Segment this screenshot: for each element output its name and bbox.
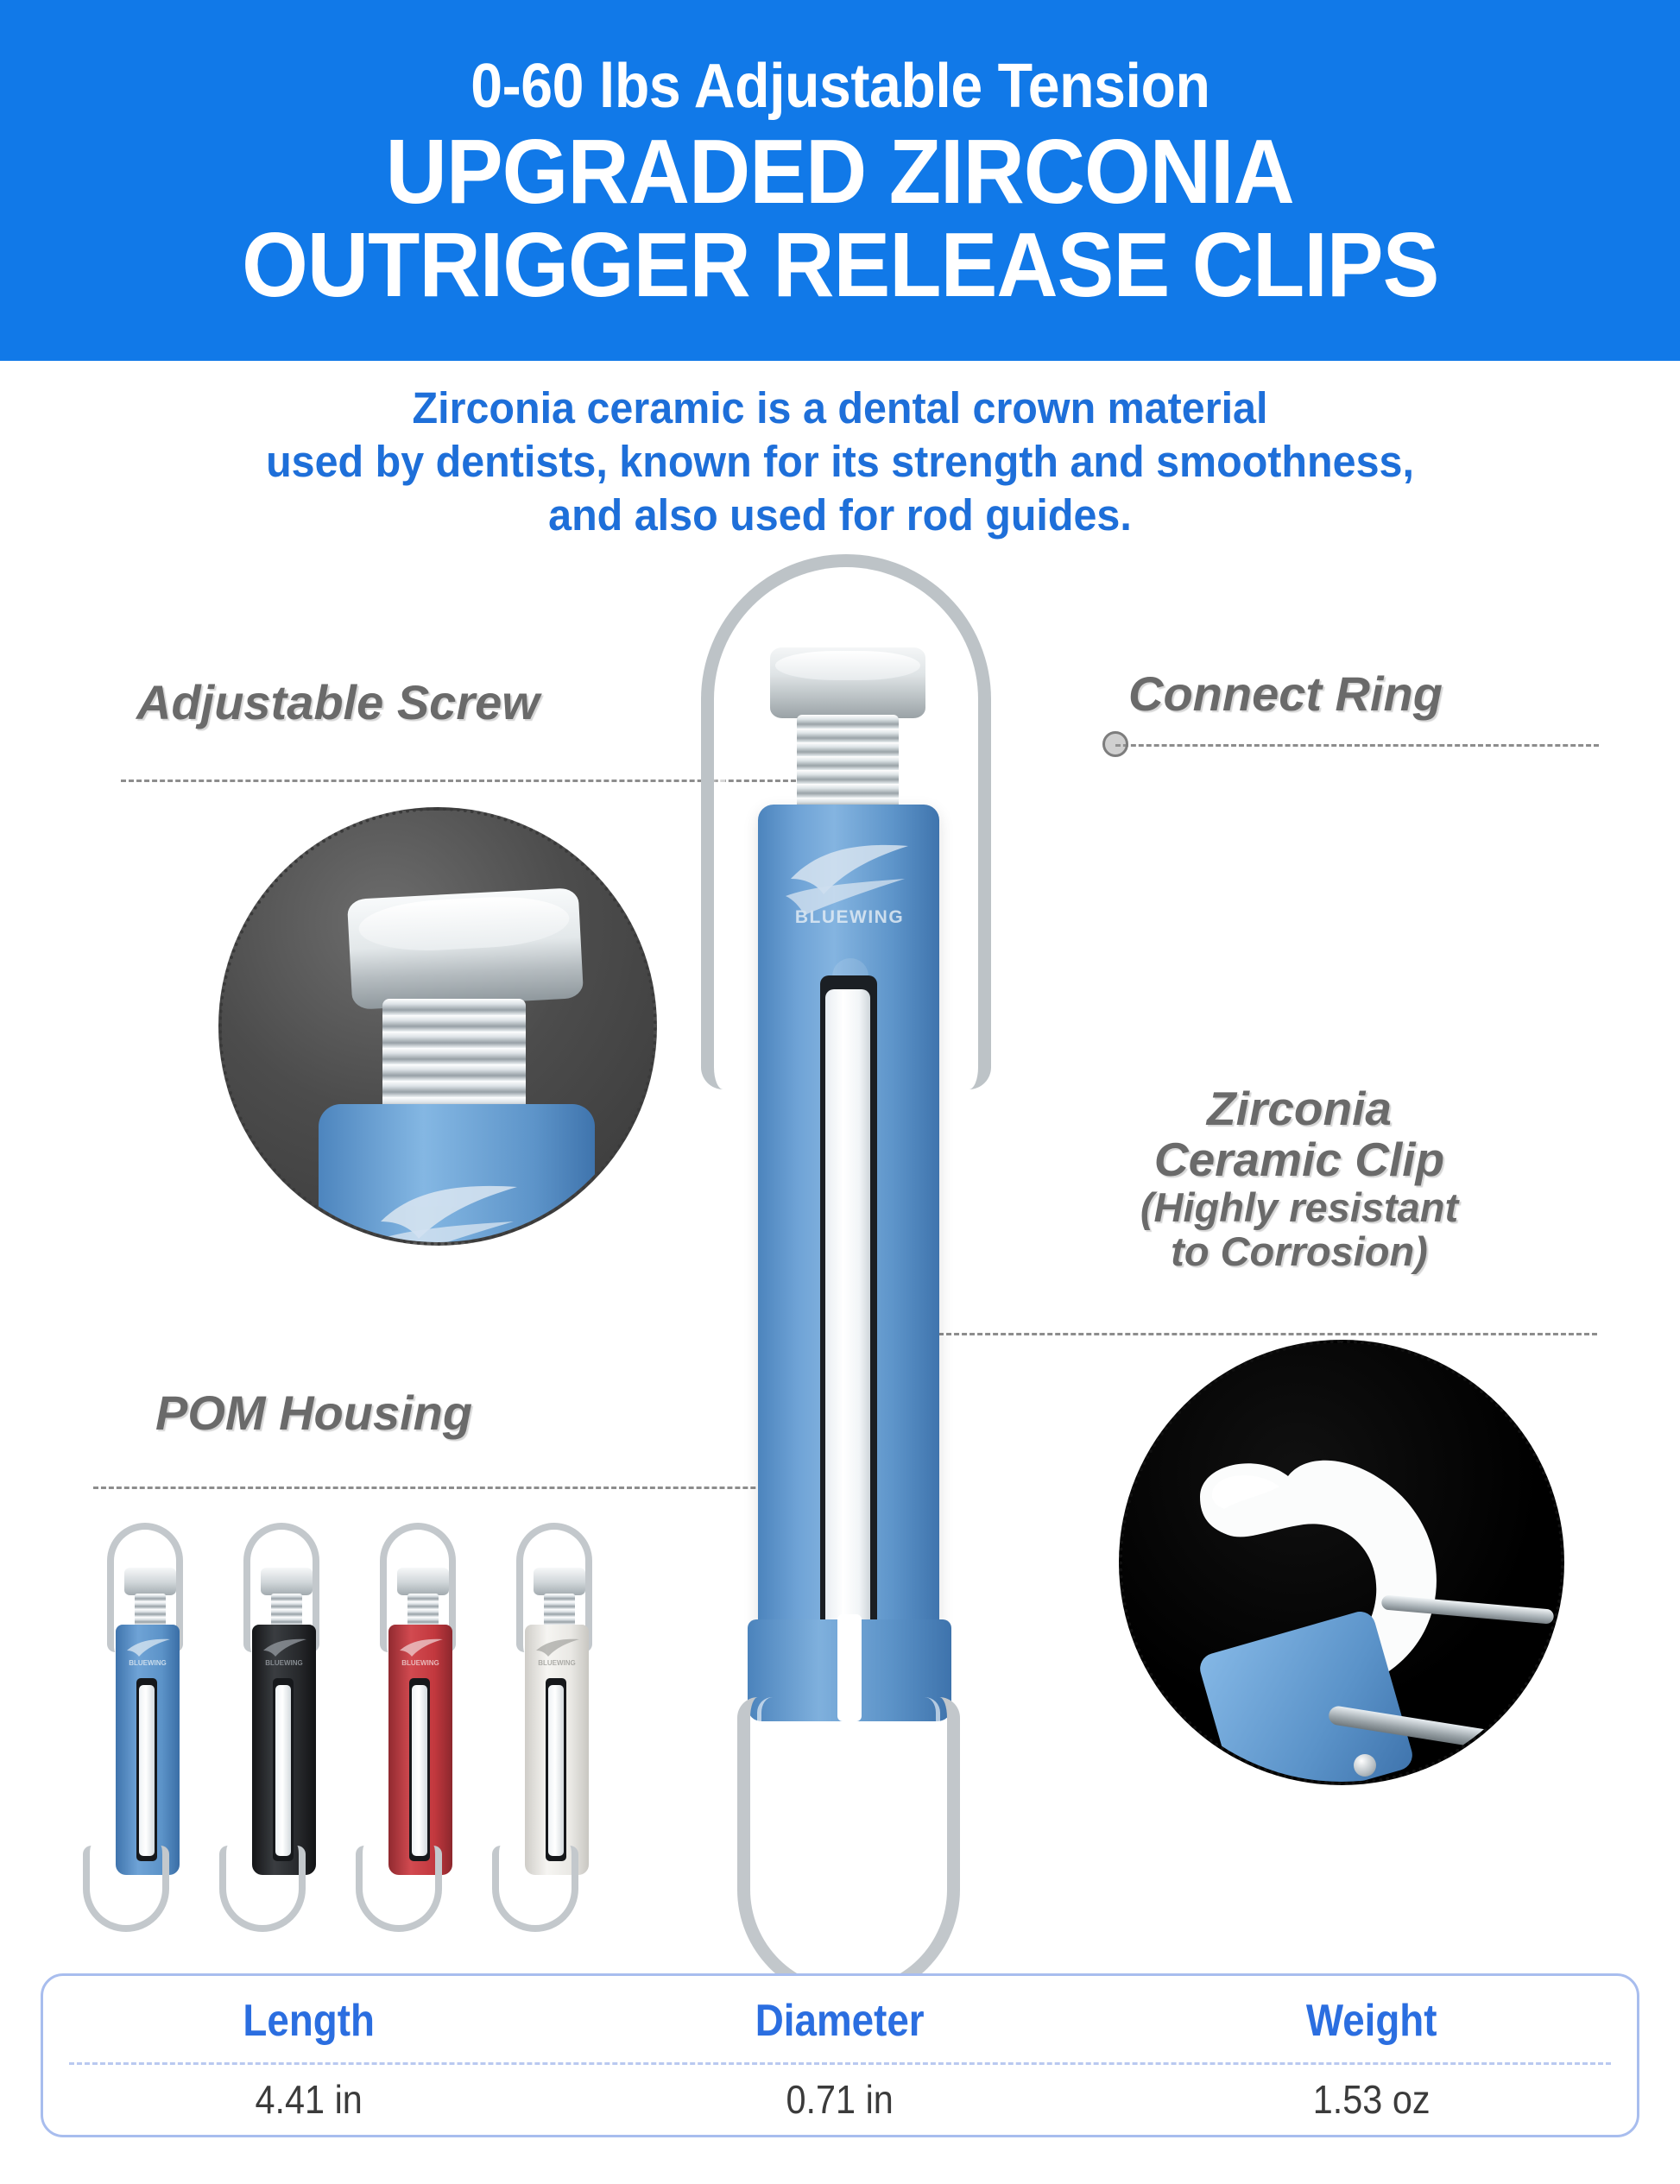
variant-ring-bottom bbox=[492, 1846, 578, 1932]
variant-screw-head bbox=[397, 1568, 449, 1595]
bluewing-logo-icon: BLUEWING bbox=[779, 841, 920, 924]
label-connect-ring: Connect Ring bbox=[1128, 669, 1443, 720]
svg-text:BLUEWING: BLUEWING bbox=[538, 1659, 576, 1666]
label-pom-housing: POM Housing bbox=[155, 1388, 472, 1439]
variant-ceramic-clip bbox=[139, 1685, 155, 1856]
svg-text:BLUEWING: BLUEWING bbox=[265, 1659, 303, 1666]
label-ceramic-clip-line-1: Zirconia bbox=[1058, 1083, 1541, 1134]
inset-screw-thread bbox=[382, 999, 526, 1116]
variant-screw-head bbox=[124, 1568, 176, 1595]
label-adjustable-screw: Adjustable Screw bbox=[136, 678, 540, 729]
spec-divider bbox=[69, 2062, 1611, 2065]
subtitle-line-2: used by dentists, known for its strength… bbox=[42, 435, 1639, 489]
inset-rivet-icon bbox=[1354, 1754, 1376, 1777]
variant-screw-head bbox=[534, 1568, 585, 1595]
variant-blue: BLUEWING bbox=[78, 1519, 190, 1925]
svg-text:BLUEWING: BLUEWING bbox=[129, 1659, 167, 1666]
adjustable-screw-head bbox=[770, 647, 925, 718]
svg-text:BLUEWING: BLUEWING bbox=[401, 1659, 439, 1666]
connect-ring-bottom bbox=[737, 1697, 960, 2001]
bluewing-logo-icon-variant: BLUEWING bbox=[123, 1637, 173, 1666]
label-ceramic-clip-line-3: (Highly resistant bbox=[1058, 1185, 1541, 1230]
subtitle-line-1: Zirconia ceramic is a dental crown mater… bbox=[42, 382, 1639, 435]
zirconia-ceramic-clip bbox=[825, 989, 870, 1630]
variant-white: BLUEWING bbox=[487, 1519, 599, 1925]
variant-red: BLUEWING bbox=[351, 1519, 463, 1925]
label-ceramic-clip-line-2: Ceramic Clip bbox=[1058, 1134, 1541, 1185]
inset-housing-top: BLUEWING bbox=[319, 1104, 595, 1246]
color-variants-row: BLUEWING BLUEWING BLUEWING bbox=[78, 1519, 630, 1934]
spec-header-row: Length Diameter Weight bbox=[43, 1995, 1637, 2047]
variant-ceramic-clip bbox=[412, 1685, 427, 1856]
banner-title-line-1: UPGRADED ZIRCONIA bbox=[386, 126, 1294, 218]
spec-header-length: Length bbox=[75, 1995, 542, 2047]
adjustable-screw-thread bbox=[797, 715, 899, 811]
bluewing-logo-icon-inset: BLUEWING bbox=[367, 1180, 531, 1246]
variant-screw-head bbox=[261, 1568, 313, 1595]
variant-body-black: BLUEWING bbox=[252, 1625, 316, 1875]
product-main-image: BLUEWING bbox=[622, 552, 1071, 2055]
spec-header-diameter: Diameter bbox=[606, 1995, 1073, 2047]
subtitle-line-3: and also used for rod guides. bbox=[42, 489, 1639, 542]
bluewing-logo-text: BLUEWING bbox=[795, 907, 904, 924]
inset-photo-ceramic-clip bbox=[1119, 1340, 1564, 1785]
specification-table: Length Diameter Weight 4.41 in 0.71 in 1… bbox=[41, 1973, 1639, 2137]
pom-housing-body: BLUEWING bbox=[758, 805, 939, 1670]
banner-tension-line: 0-60 lbs Adjustable Tension bbox=[471, 55, 1209, 118]
variant-ceramic-clip bbox=[548, 1685, 564, 1856]
variant-ring-bottom bbox=[219, 1846, 306, 1932]
banner-title-line-2: OUTRIGGER RELEASE CLIPS bbox=[242, 219, 1438, 311]
variant-body-blue: BLUEWING bbox=[116, 1625, 180, 1875]
variant-black: BLUEWING bbox=[214, 1519, 326, 1925]
spec-value-weight: 1.53 oz bbox=[1132, 2076, 1610, 2123]
variant-body-red: BLUEWING bbox=[388, 1625, 452, 1875]
spec-header-weight: Weight bbox=[1138, 1995, 1605, 2047]
inset-screw-head bbox=[347, 887, 584, 1010]
variant-ceramic-clip bbox=[275, 1685, 291, 1856]
spec-value-diameter: 0.71 in bbox=[601, 2076, 1079, 2123]
marker-dot-connect-ring bbox=[1102, 731, 1128, 757]
spec-value-row: 4.41 in 0.71 in 1.53 oz bbox=[43, 2076, 1637, 2123]
variant-body-white: BLUEWING bbox=[525, 1625, 589, 1875]
spec-value-length: 4.41 in bbox=[70, 2076, 548, 2123]
label-ceramic-clip: Zirconia Ceramic Clip (Highly resistant … bbox=[1058, 1083, 1541, 1274]
bluewing-logo-icon-variant: BLUEWING bbox=[532, 1637, 582, 1666]
bluewing-logo-icon-variant: BLUEWING bbox=[259, 1637, 309, 1666]
leader-line-connect-ring bbox=[1115, 744, 1599, 747]
variant-ring-bottom bbox=[83, 1846, 169, 1932]
subtitle-block: Zirconia ceramic is a dental crown mater… bbox=[42, 382, 1639, 543]
inset-photo-adjustable-screw: BLUEWING bbox=[218, 807, 657, 1246]
bluewing-logo-icon-variant: BLUEWING bbox=[395, 1637, 445, 1666]
label-ceramic-clip-line-4: to Corrosion) bbox=[1058, 1229, 1541, 1274]
header-banner: 0-60 lbs Adjustable Tension UPGRADED ZIR… bbox=[0, 0, 1680, 361]
variant-ring-bottom bbox=[356, 1846, 442, 1932]
